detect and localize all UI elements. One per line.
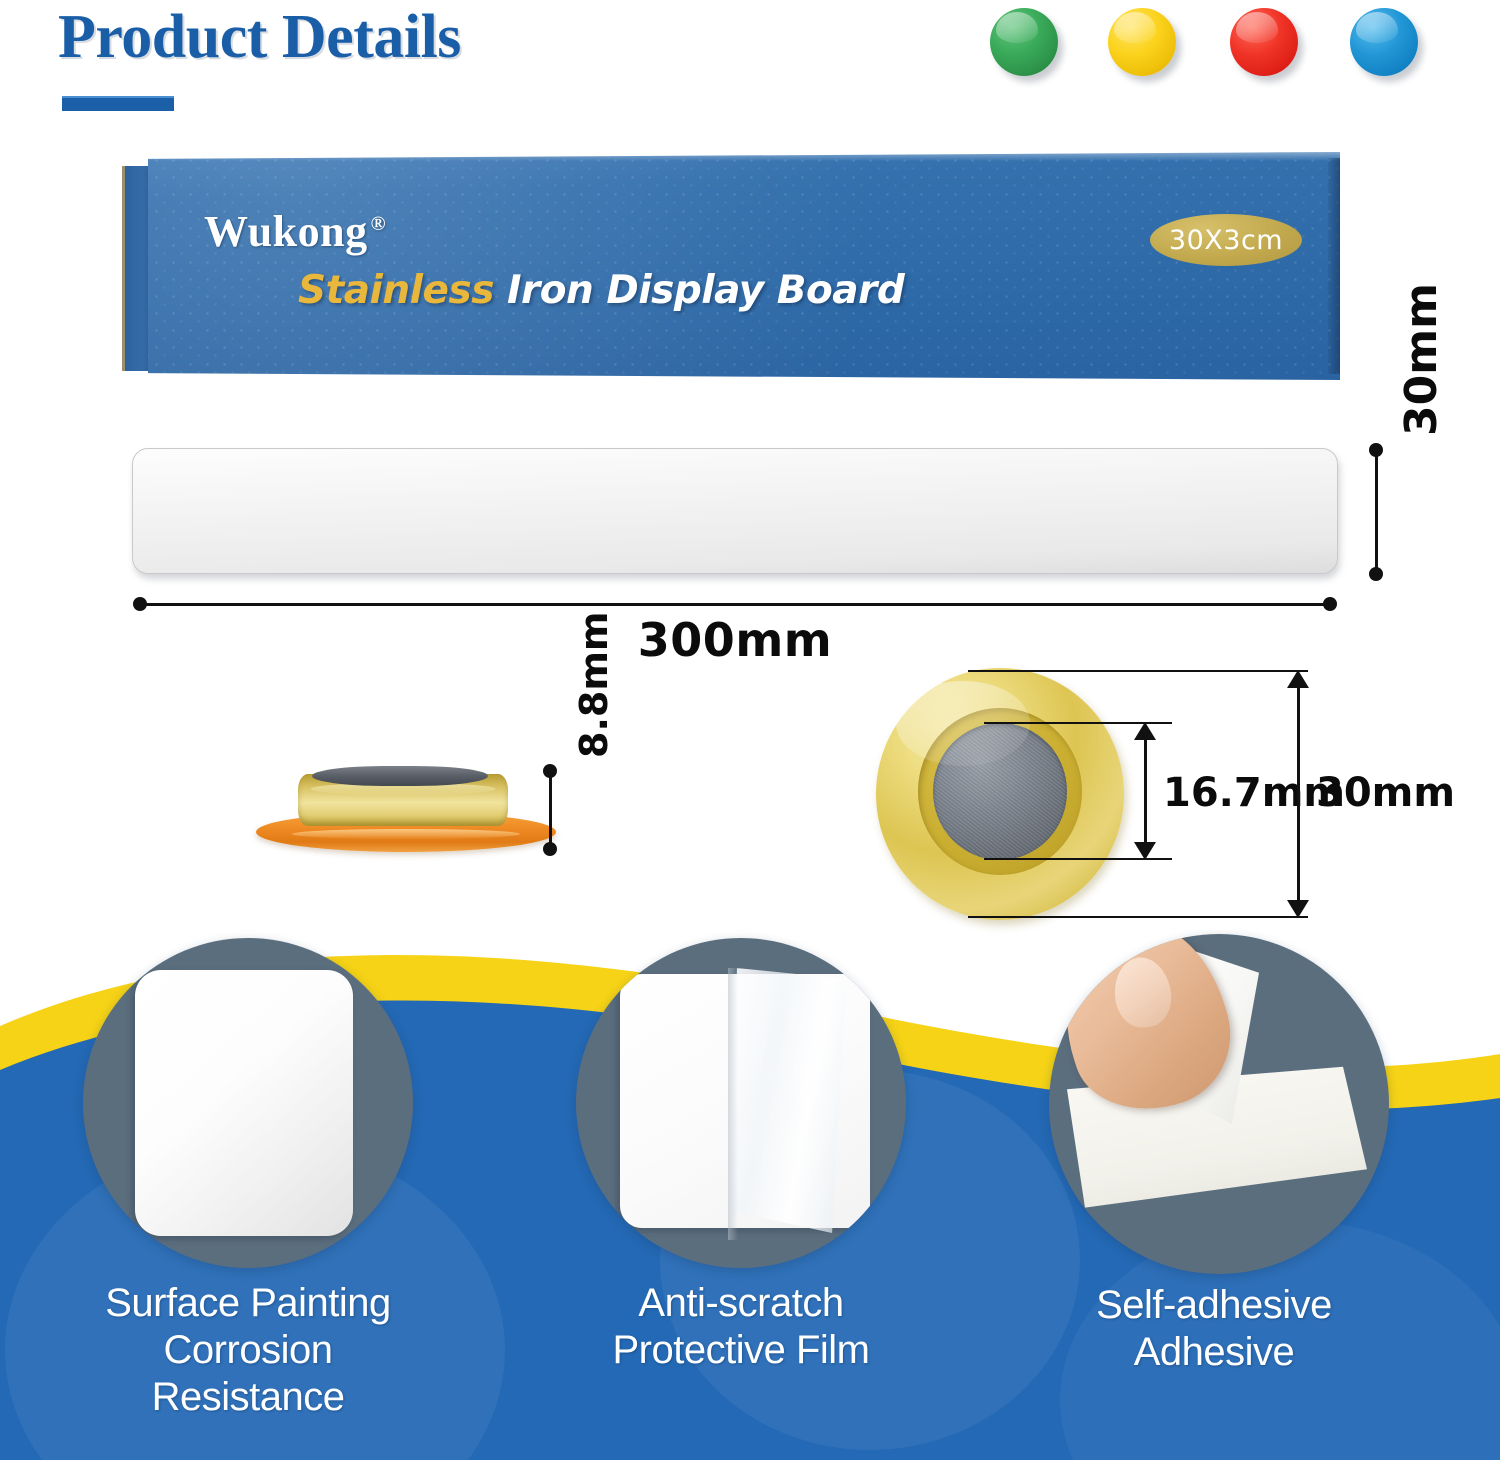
box-right-edge [1328,158,1340,374]
steel-plate-photo [135,970,353,1236]
steel-display-board [132,448,1338,574]
film-peel-overlay [730,968,846,1244]
feature-caption: Anti-scratch Protective Film [576,1280,906,1374]
feature-caption-line2: Corrosion Resistance [83,1327,413,1421]
feature-caption-line1: Surface Painting [83,1280,413,1327]
length-label: 300mm [0,613,1470,667]
brand-name: Wukong [204,207,368,256]
arrow-head-outer-top [1287,670,1309,688]
arrow-head-core-bottom [1134,842,1156,860]
dimension-endpoint-bottom [1369,567,1383,581]
color-swatches [990,6,1420,78]
size-badge: 30X3cm [1150,214,1302,266]
extension-line-outer-bottom [968,916,1308,918]
box-front-face [148,152,1340,380]
tagline-rest: Iron Display Board [507,268,904,313]
feature-thumbnail-self-adhesive [1049,934,1389,1274]
dimension-rule [549,770,552,850]
feature-item: Self-adhesive Adhesive [1049,934,1379,1376]
trademark-symbol: ® [371,213,386,235]
dimension-rule [1375,449,1378,575]
product-details-infographic: Product Details Wukong® Stainless Iron D… [0,0,1500,1460]
feature-caption-line1: Anti-scratch [576,1280,906,1327]
extension-line-outer-top [968,670,1308,672]
feature-caption: Self-adhesive Adhesive [1049,1282,1379,1376]
arrow-shaft-outer [1297,676,1300,912]
dimension-endpoint-right [1323,597,1337,611]
color-dot-yellow [1108,8,1176,76]
magnet-top-view [876,668,1124,920]
arrow-head-core-top [1134,722,1156,740]
color-dot-green [990,8,1058,76]
color-dot-red [1230,8,1298,76]
arrow-head-outer-bottom [1287,900,1309,918]
dimension-rule [139,603,1331,606]
feature-caption-line2: Adhesive [1049,1329,1379,1376]
feature-caption-line1: Self-adhesive [1049,1282,1379,1329]
color-dot-blue [1350,8,1418,76]
package-tagline: Stainless Iron Display Board [298,268,904,313]
box-top-edge [148,152,1340,161]
features-panel: Surface Painting Corrosion Resistance An… [0,930,1500,1460]
thumbnail-nail [1110,954,1175,1031]
length-dimension-line [133,597,1337,611]
brand-logo: Wukong® [204,206,386,257]
magnet-side-view [256,760,556,856]
thickness-dimension-line [543,764,557,856]
arrow-shaft-core [1144,728,1147,854]
thickness-label: 8.8mm [572,628,616,758]
width-dimension-line [1369,443,1383,581]
feature-thumbnail-protective-film [576,938,906,1268]
film-edge-line [728,968,738,1240]
page-title: Product Details [58,2,461,73]
feature-thumbnail-surface-painting [83,938,413,1268]
dimension-endpoint-bottom [543,842,557,856]
magnet-steel-disc [312,766,488,786]
feature-item: Surface Painting Corrosion Resistance [83,938,413,1422]
package-box: Wukong® Stainless Iron Display Board 30X… [122,152,1340,384]
tagline-highlight: Stainless [298,268,494,313]
feature-item: Anti-scratch Protective Film [576,938,906,1374]
width-label: 30mm [1396,286,1447,436]
magnet-outer-label: 30mm [1316,770,1455,816]
feature-caption: Surface Painting Corrosion Resistance [83,1280,413,1422]
title-underline [62,96,174,111]
feature-caption-line2: Protective Film [576,1327,906,1374]
